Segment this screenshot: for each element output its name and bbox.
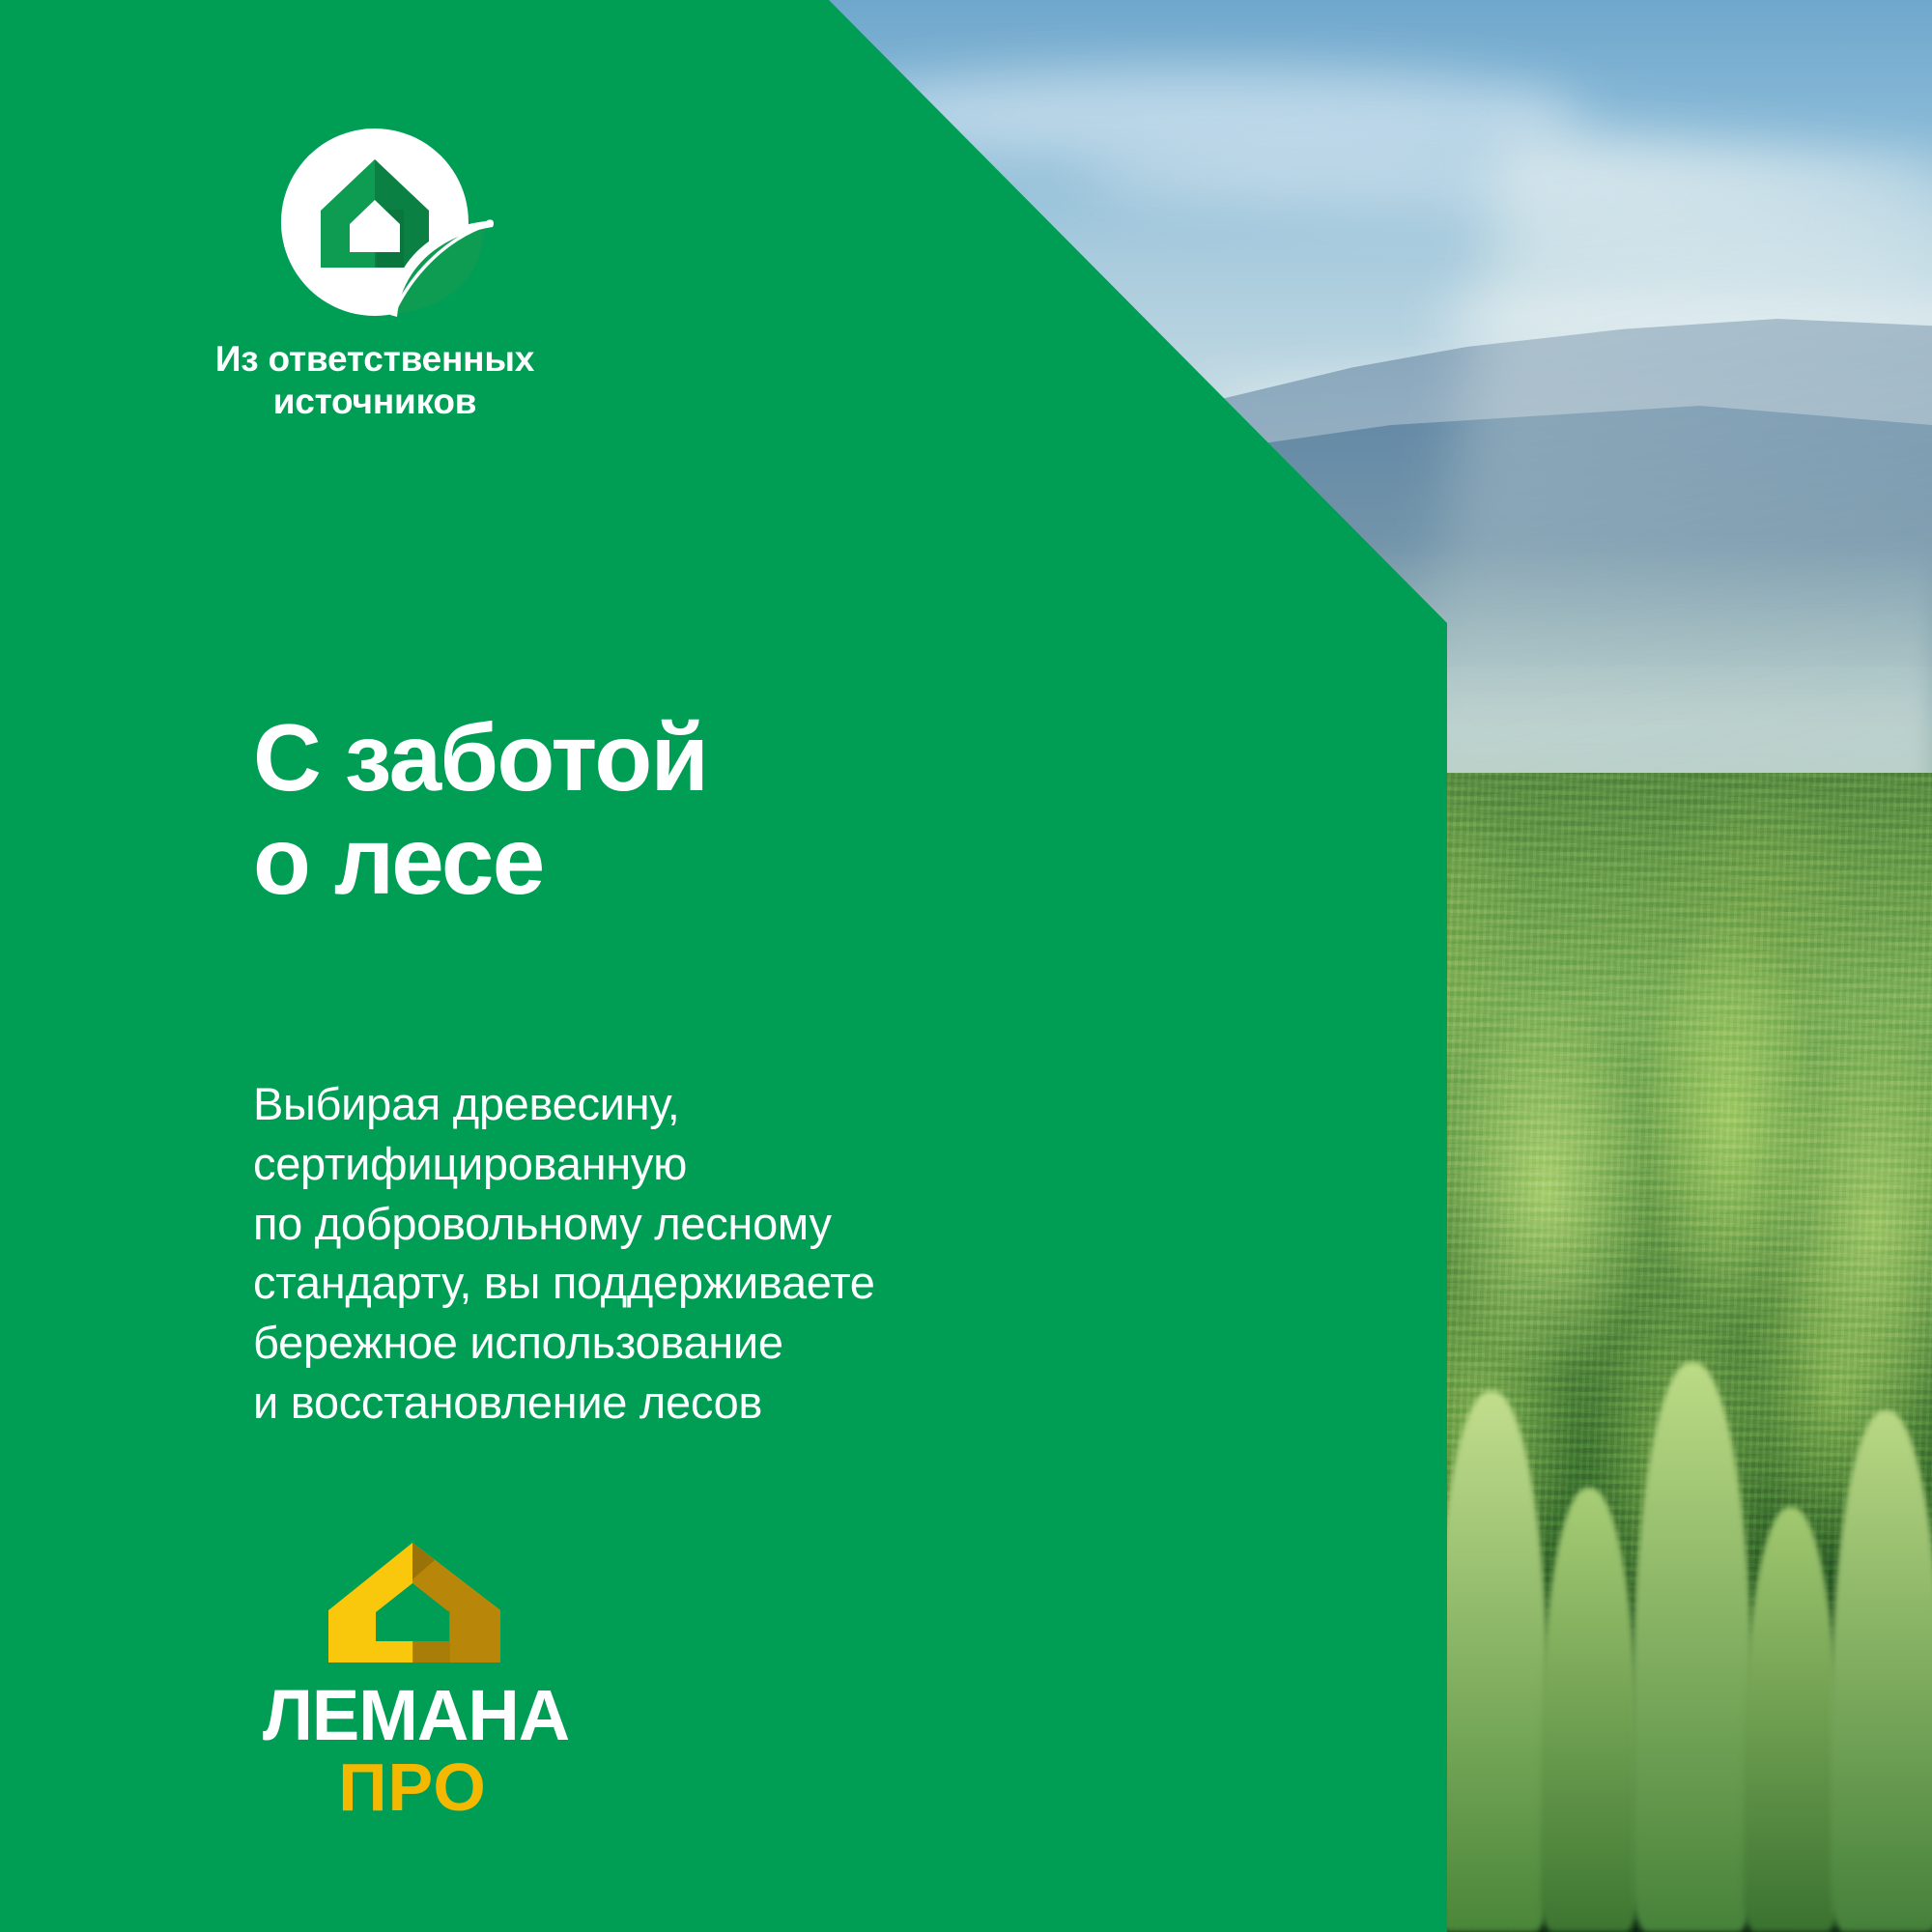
brand-name-secondary: ПРО [263,1753,562,1822]
eco-certification-mark: Из ответственных источников [249,121,500,422]
page-title: С заботой о лесе [253,706,707,915]
lemana-house-icon [321,1541,504,1664]
brand-logo: ЛЕМАНА ПРО [263,1541,562,1822]
content-layer: Из ответственных источников С заботой о … [0,0,1932,1932]
eco-certification-caption: Из ответственных источников [211,338,539,422]
brand-wordmark: ЛЕМАНА ПРО [263,1680,562,1822]
body-paragraph: Выбирая древесину, сертифицированную по … [253,1074,875,1433]
house-leaf-circle-icon [249,121,500,319]
brand-name-primary: ЛЕМАНА [263,1680,562,1751]
poster-canvas: Из ответственных источников С заботой о … [0,0,1932,1932]
